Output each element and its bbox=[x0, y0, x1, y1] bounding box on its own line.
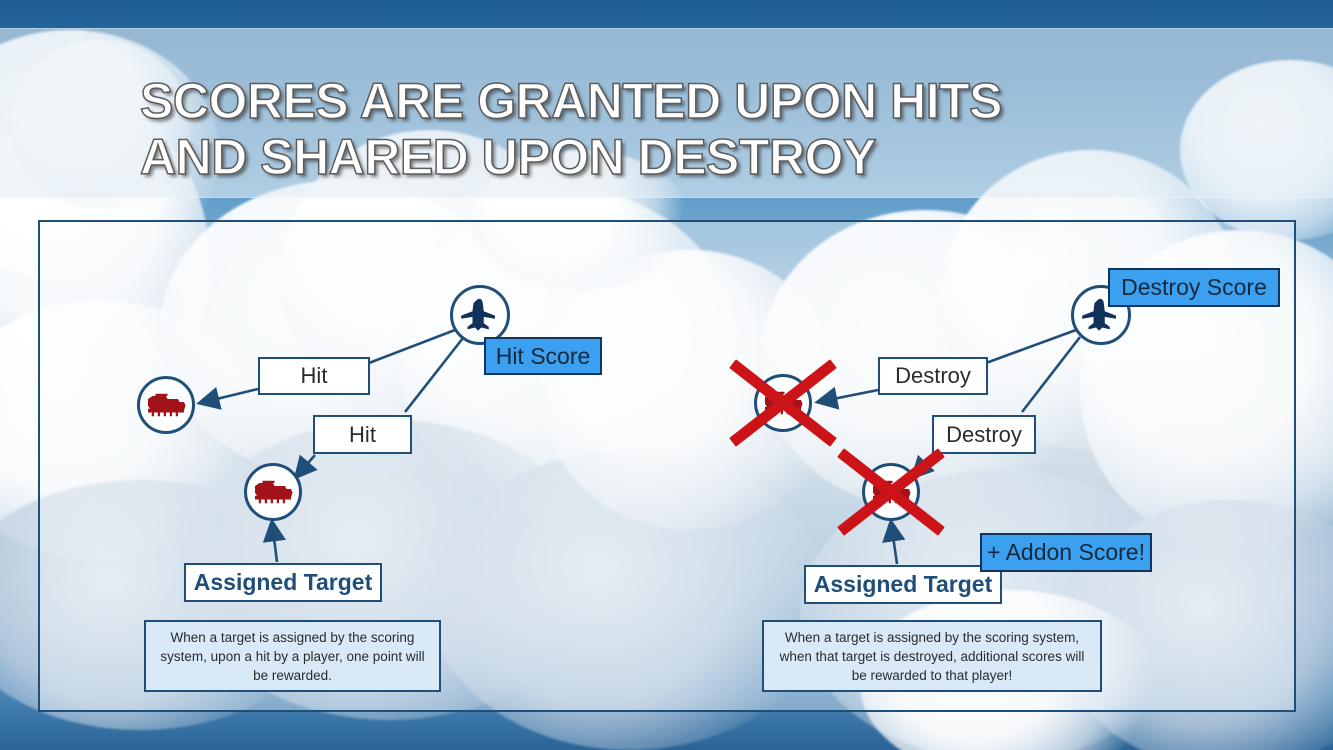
tank-icon bbox=[145, 393, 187, 417]
target-node-destroy-1[interactable] bbox=[754, 374, 812, 432]
destroy-scenario-caption: When a target is assigned by the scoring… bbox=[762, 620, 1102, 692]
addon-score-badge[interactable]: + Addon Score! bbox=[980, 533, 1152, 572]
page-title: SCORES ARE GRANTED UPON HITS AND SHARED … bbox=[140, 73, 1260, 185]
hit-scenario-caption: When a target is assigned by the scoring… bbox=[144, 620, 441, 692]
destroy-edge-label-1: Destroy bbox=[878, 357, 988, 395]
tank-icon bbox=[252, 480, 294, 504]
hit-score-badge[interactable]: Hit Score bbox=[484, 337, 602, 375]
jet-node-hit[interactable] bbox=[450, 285, 510, 345]
destroy-edge-label-2: Destroy bbox=[932, 415, 1036, 454]
assigned-target-label-right: Assigned Target bbox=[804, 565, 1002, 604]
tank-icon bbox=[870, 480, 912, 504]
title-band: SCORES ARE GRANTED UPON HITS AND SHARED … bbox=[0, 28, 1333, 198]
hit-edge-label-2: Hit bbox=[313, 415, 412, 454]
fighter-jet-icon bbox=[460, 297, 500, 333]
destroy-score-badge[interactable]: Destroy Score bbox=[1108, 268, 1280, 307]
tank-icon bbox=[762, 391, 804, 415]
hit-edge-label-1: Hit bbox=[258, 357, 370, 395]
target-node-destroy-2[interactable] bbox=[862, 463, 920, 521]
target-node-hit-2[interactable] bbox=[244, 463, 302, 521]
target-node-hit-1[interactable] bbox=[137, 376, 195, 434]
assigned-target-label-left: Assigned Target bbox=[184, 563, 382, 602]
